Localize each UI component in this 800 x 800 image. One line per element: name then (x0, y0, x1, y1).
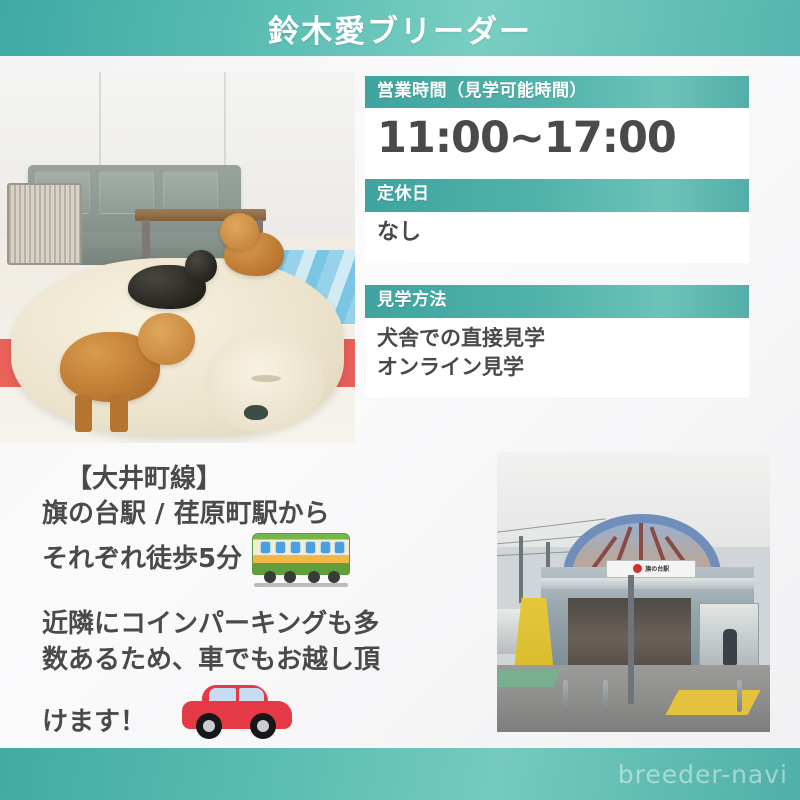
puppy-leg (75, 395, 93, 432)
train-wheel (308, 571, 320, 583)
catenary-pole (519, 536, 523, 603)
info-section-visit-method: 見学方法 犬舎での直接見学 オンライン見学 (365, 285, 749, 397)
train-window (305, 541, 316, 554)
green-road-marking (497, 670, 560, 687)
sofa-cushion (99, 171, 154, 213)
parking-line-3: けます！ (42, 705, 146, 741)
room-photo (0, 72, 355, 443)
access-line-label: 【大井町線】 (42, 462, 472, 497)
puppy-brown-rear-head (220, 213, 259, 250)
parking-line-1: 近隣にコインパーキングも多 (42, 607, 482, 643)
parking-line-3-row: けます！ (42, 679, 482, 741)
railway-logo-icon (633, 564, 642, 573)
page-header: 鈴木愛ブリーダー (0, 0, 800, 56)
business-hours-value: 11:00~17:00 (377, 114, 739, 162)
section-gap (365, 172, 749, 179)
info-heading-hours: 営業時間（見学可能時間） (365, 76, 749, 108)
train-window (334, 541, 345, 554)
tactile-paving (665, 690, 760, 715)
parking-info: 近隣にコインパーキングも多 数あるため、車でもお越し頂 けます！ (42, 607, 482, 741)
pedestrian-figure (723, 629, 737, 665)
station-pillar (628, 575, 634, 704)
puppy-brown-front-head (138, 313, 195, 365)
sofa-cushion (163, 171, 218, 213)
bollard (603, 680, 608, 712)
train-rail (254, 583, 348, 587)
access-line-walk: それぞれ徒歩5分 (42, 542, 242, 577)
info-panel: 営業時間（見学可能時間） 11:00~17:00 定休日 なし 見学方法 犬舎で… (365, 76, 749, 397)
info-section-closed-days: 定休日 なし (365, 179, 749, 263)
access-walk-row: それぞれ徒歩5分 (42, 531, 472, 587)
parking-line-2: 数あるため、車でもお越し頂 (42, 643, 482, 679)
info-body-visit-method: 犬舎での直接見学 オンライン見学 (365, 318, 749, 398)
train-car-icon (252, 531, 350, 587)
bollard (737, 680, 742, 712)
info-heading-closed-days: 定休日 (365, 179, 749, 211)
bear-nose (244, 405, 267, 419)
station-sign-text: 旗の台駅 (645, 564, 669, 573)
closed-days-value: なし (377, 218, 739, 248)
info-body-hours: 11:00~17:00 (365, 108, 749, 172)
train-wheel (264, 571, 276, 583)
puppy-leg (110, 395, 128, 432)
bollard (563, 680, 568, 712)
train-body (252, 533, 350, 575)
red-car-icon (182, 679, 292, 741)
train-wheel (284, 571, 296, 583)
section-gap (365, 263, 749, 285)
dog-crate (7, 183, 82, 265)
car-wheel-front (196, 713, 222, 739)
station-photo: 旗の台駅 (497, 452, 770, 732)
site-watermark: breeder-navi (618, 760, 800, 789)
car-wheel-rear (250, 713, 276, 739)
puppy-black-head (185, 250, 217, 283)
info-body-closed-days: なし (365, 212, 749, 264)
poster-page: 鈴木愛ブリーダー (0, 0, 800, 800)
train-window (290, 541, 301, 554)
page-footer: breeder-navi (0, 748, 800, 800)
station-name-sign: 旗の台駅 (606, 560, 696, 578)
train-window (275, 541, 286, 554)
page-title: 鈴木愛ブリーダー (268, 6, 532, 51)
info-section-hours: 営業時間（見学可能時間） 11:00~17:00 (365, 76, 749, 172)
info-heading-visit-method: 見学方法 (365, 285, 749, 317)
station-canopy (541, 578, 754, 589)
train-wheel (328, 571, 340, 583)
visit-method-line-2: オンライン見学 (377, 353, 739, 383)
access-info: 【大井町線】 旗の台駅 / 荏原町駅から それぞれ徒歩5分 近隣にコインパーキン… (42, 462, 472, 741)
access-line-stations: 旗の台駅 / 荏原町駅から (42, 497, 472, 532)
train-window (260, 541, 271, 554)
train-window (320, 541, 331, 554)
visit-method-line-1: 犬舎での直接見学 (377, 324, 739, 354)
